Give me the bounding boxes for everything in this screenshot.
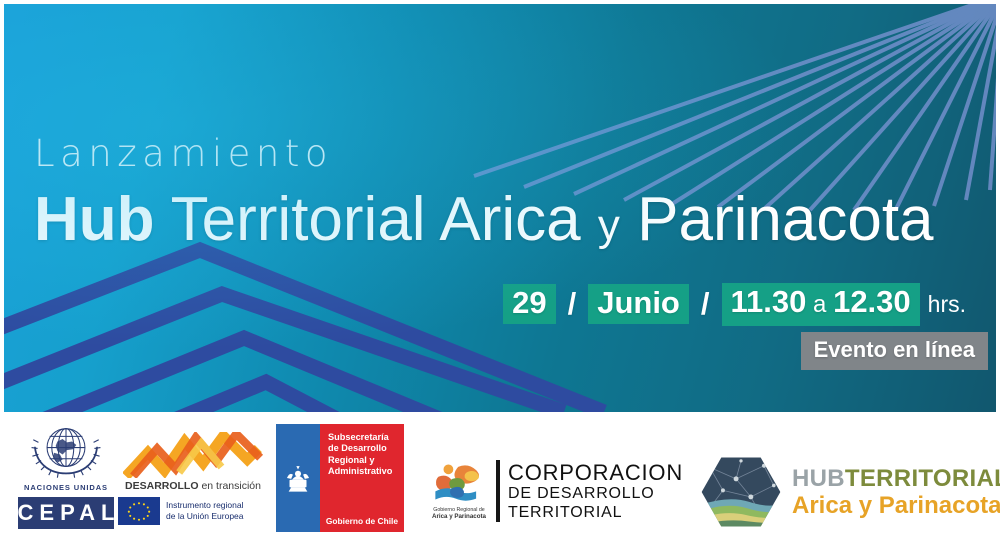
logo-desarrollo-en-transicion: DESARROLLO en transición Instr: [118, 432, 268, 525]
desarrollo-zigzag-icon: [123, 432, 263, 478]
gobierno-regional-mark: Gobierno Regional de Arica y Parinacota: [430, 462, 488, 520]
event-day-chip: 29: [503, 284, 555, 324]
corporacion-line-3: TERRITORIAL: [508, 503, 683, 522]
title-place-arica: Arica: [439, 185, 580, 254]
desarrollo-caption-rest: en transición: [201, 480, 261, 492]
event-month-chip: Junio: [588, 284, 689, 324]
logo-subdere: Subsecretaría de Desarrollo Regional y A…: [276, 424, 404, 532]
date-separator-1: /: [556, 287, 589, 321]
title-word-territorial: Territorial: [171, 185, 426, 254]
hub-wordmark: HUBTERRITORIAL Arica y Parinacota: [792, 466, 1000, 519]
territorial-word: TERRITORIAL: [845, 465, 1000, 492]
event-banner-page: Lanzamiento Hub Territorial Arica y Pari…: [0, 0, 1000, 540]
subdere-line-3: Regional y: [328, 455, 398, 466]
desarrollo-caption: DESARROLLO en transición: [118, 480, 268, 492]
subdere-line-4: Administrativo: [328, 466, 398, 477]
event-datetime-row: 29 / Junio / 11.30 a 12.30 hrs.: [34, 282, 966, 326]
european-union-flag-icon: [118, 497, 160, 525]
gobierno-regional-caption: Gobierno Regional de Arica y Parinacota: [430, 507, 488, 520]
subdere-crest-panel: [276, 424, 320, 532]
event-time-chip: 11.30 a 12.30: [722, 283, 920, 326]
date-separator-2: /: [689, 287, 722, 321]
gobierno-regional-arica-parinacota-icon: [430, 462, 488, 506]
subdere-line-1: Subsecretaría: [328, 432, 398, 443]
eu-line-1: Instrumento regional: [166, 500, 244, 511]
cepal-wordmark: CEPAL: [12, 500, 121, 526]
event-time-joiner: a: [813, 291, 826, 318]
chile-coat-of-arms-icon: [281, 461, 315, 495]
hub-wordmark-line-1: HUBTERRITORIAL: [792, 466, 1000, 492]
corporacion-line-1: CORPORACION: [508, 461, 683, 484]
banner-hero: Lanzamiento Hub Territorial Arica y Pari…: [4, 4, 996, 412]
corporacion-divider: [496, 460, 500, 522]
corporacion-wordmark: CORPORACION DE DESARROLLO TERRITORIAL: [508, 461, 683, 522]
subdere-line-2: de Desarrollo: [328, 443, 398, 454]
hub-word: HUB: [792, 465, 845, 492]
corporacion-line-2: DE DESARROLLO: [508, 484, 683, 503]
event-time-start: 11.30: [731, 284, 807, 319]
eyebrow-text: Lanzamiento: [34, 132, 333, 175]
united-nations-emblem-icon: [14, 420, 118, 482]
logo-corporacion-desarrollo-territorial: Gobierno Regional de Arica y Parinacota …: [430, 460, 683, 522]
modality-badge: Evento en línea: [801, 332, 988, 370]
page-title: Hub Territorial Arica y Parinacota: [34, 186, 934, 260]
title-conjunction: y: [598, 201, 620, 250]
desarrollo-caption-bold: DESARROLLO: [125, 480, 199, 492]
eu-instrument-block: Instrumento regional de la Unión Europea: [118, 497, 268, 525]
gobierno-regional-caption-bottom: Arica y Parinacota: [432, 513, 486, 520]
event-time-unit: hrs.: [920, 287, 966, 321]
title-place-parinacota: Parinacota: [637, 185, 933, 254]
cepal-wordmark-box: CEPAL: [18, 497, 114, 529]
logo-un-cepal: NACIONES UNIDAS CEPAL: [14, 420, 118, 529]
eu-line-2: de la Unión Europea: [166, 511, 244, 522]
sponsor-logo-bar: NACIONES UNIDAS CEPAL DESARROLLO en tran…: [0, 416, 1000, 540]
hub-network-hexagon-icon: [700, 454, 782, 530]
subdere-title-panel: Subsecretaría de Desarrollo Regional y A…: [320, 424, 404, 532]
title-word-hub: Hub: [34, 185, 155, 254]
subdere-footer: Gobierno de Chile: [326, 516, 398, 526]
un-caption: NACIONES UNIDAS: [14, 483, 118, 492]
eu-instrument-text: Instrumento regional de la Unión Europea: [166, 500, 244, 522]
logo-hub-territorial: HUBTERRITORIAL Arica y Parinacota: [700, 454, 1000, 530]
event-time-end: 12.30: [833, 284, 911, 319]
hub-subtitle: Arica y Parinacota: [792, 492, 1000, 519]
